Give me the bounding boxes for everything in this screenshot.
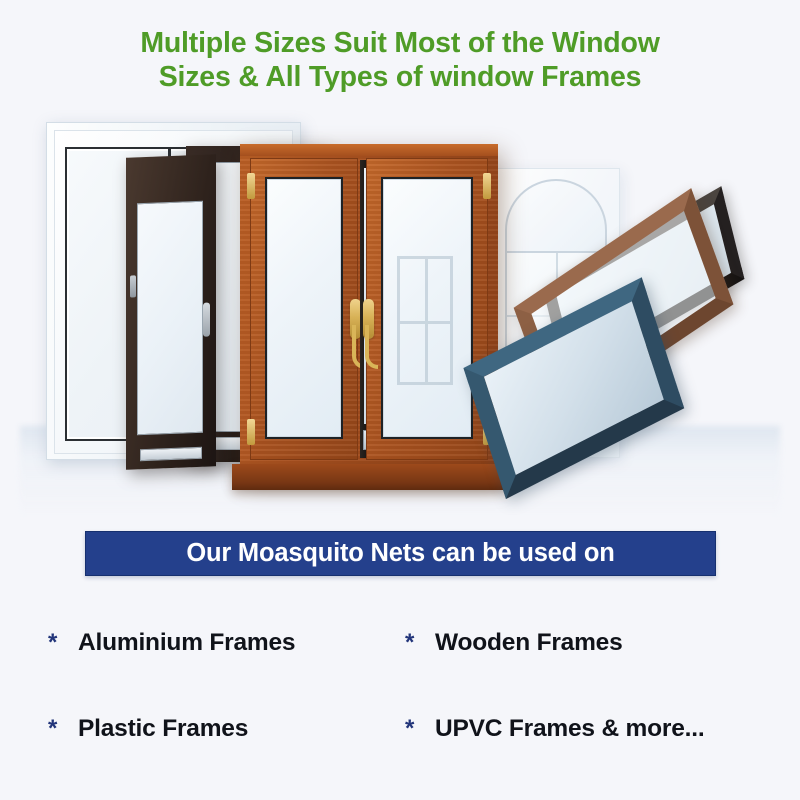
dark-leaf-foot bbox=[140, 447, 202, 461]
arch-top bbox=[505, 179, 607, 253]
muntin-grid bbox=[397, 256, 453, 385]
asterisk-bullet-icon: * bbox=[405, 717, 435, 741]
dark-window-open-leaf bbox=[126, 154, 216, 469]
list-item-label: Aluminium Frames bbox=[78, 629, 295, 657]
muntin-horizontal bbox=[397, 321, 453, 324]
lever-handle-icon bbox=[203, 303, 210, 337]
asterisk-bullet-icon: * bbox=[405, 631, 435, 655]
page-title: Multiple Sizes Suit Most of the Window S… bbox=[0, 0, 800, 94]
asterisk-bullet-icon: * bbox=[48, 631, 78, 655]
hinge-icon bbox=[247, 419, 255, 445]
brass-handle-icon bbox=[363, 299, 374, 339]
list-item-label: UPVC Frames & more... bbox=[435, 715, 704, 743]
list-item-label: Wooden Frames bbox=[435, 629, 623, 657]
list-item: * UPVC Frames & more... bbox=[395, 686, 800, 772]
wood-right-glass bbox=[381, 177, 473, 439]
list-item: * Plastic Frames bbox=[0, 686, 395, 772]
page-title-line-2: Sizes & All Types of window Frames bbox=[0, 60, 800, 94]
wooden-double-casement-window bbox=[240, 144, 498, 476]
hinge-icon bbox=[247, 173, 255, 199]
list-item: * Aluminium Frames bbox=[0, 600, 395, 686]
list-item: * Wooden Frames bbox=[395, 600, 800, 686]
wood-frame-head bbox=[240, 144, 498, 156]
asterisk-bullet-icon: * bbox=[48, 717, 78, 741]
window-frames-illustration bbox=[0, 108, 800, 518]
frame-types-list: * Aluminium Frames * Wooden Frames * Pla… bbox=[0, 600, 800, 772]
wood-sash-right bbox=[366, 158, 488, 460]
list-item-label: Plastic Frames bbox=[78, 715, 248, 743]
muntin-horizontal bbox=[397, 256, 453, 259]
wood-sash-left bbox=[250, 158, 358, 460]
wood-window-sill bbox=[232, 464, 506, 490]
usage-banner: Our Moasquito Nets can be used on bbox=[85, 531, 716, 576]
dark-leaf-glass bbox=[137, 201, 203, 436]
muntin-horizontal bbox=[397, 382, 453, 385]
wood-left-glass bbox=[265, 177, 343, 439]
hinge-icon bbox=[483, 173, 491, 199]
usage-banner-label: Our Moasquito Nets can be used on bbox=[186, 539, 614, 568]
hinge-icon bbox=[130, 275, 136, 297]
page-title-line-1: Multiple Sizes Suit Most of the Window bbox=[0, 26, 800, 60]
